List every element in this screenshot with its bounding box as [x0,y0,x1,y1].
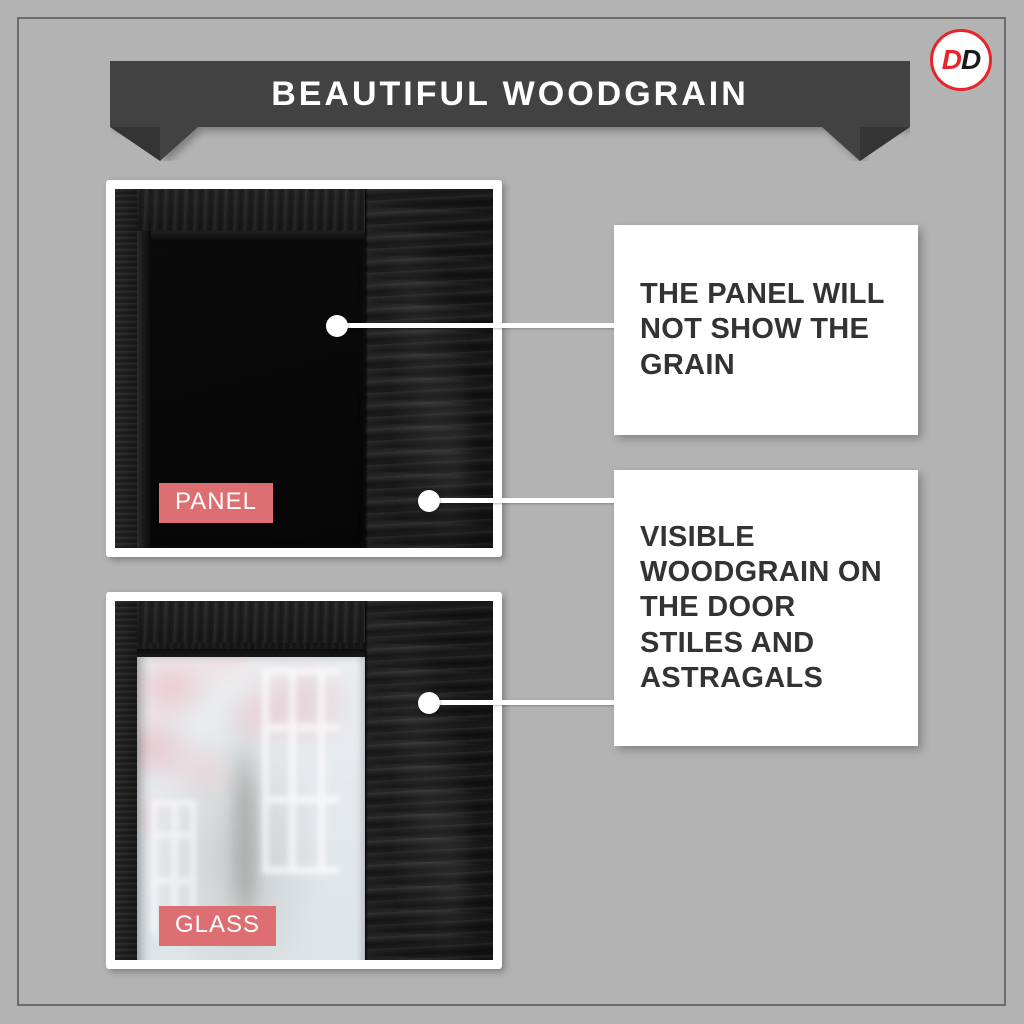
door-left-stile [115,189,137,548]
callout-dot-stile-bottom [418,692,440,714]
connector-line-stile-bottom [428,700,618,705]
glass-frame-head [137,649,365,657]
page-title: BEAUTIFUL WOODGRAIN [110,61,910,127]
blurred-stem [237,732,253,931]
connector-line-stile-top [428,498,618,503]
connector-line-panel [336,323,618,328]
callout-dot-panel [326,315,348,337]
callout-panel-grain-text: THE PANEL WILL NOT SHOW THE GRAIN [640,277,892,383]
window-reflection-right [262,668,340,873]
brand-logo[interactable]: DD [930,29,992,91]
panel-bevel-left [137,231,151,548]
logo-letter-one: D [942,46,961,74]
swatch-label-panel: PANEL [159,483,273,523]
callout-visible-grain-text: VISIBLE WOODGRAIN ON THE DOOR STILES AND… [640,520,892,697]
title-banner: BEAUTIFUL WOODGRAIN [110,61,910,161]
logo-letter-two: D [961,46,980,74]
door-left-stile [115,601,137,960]
swatch-label-glass: GLASS [159,906,276,946]
panel-bevel-top [137,231,365,241]
infographic-canvas: BEAUTIFUL WOODGRAIN DD PANEL [0,0,1024,1024]
callout-panel-grain: THE PANEL WILL NOT SHOW THE GRAIN [614,225,918,435]
callout-visible-grain: VISIBLE WOODGRAIN ON THE DOOR STILES AND… [614,470,918,746]
door-right-stile-woodgrain [365,601,493,960]
callout-dot-stile-top [418,490,440,512]
